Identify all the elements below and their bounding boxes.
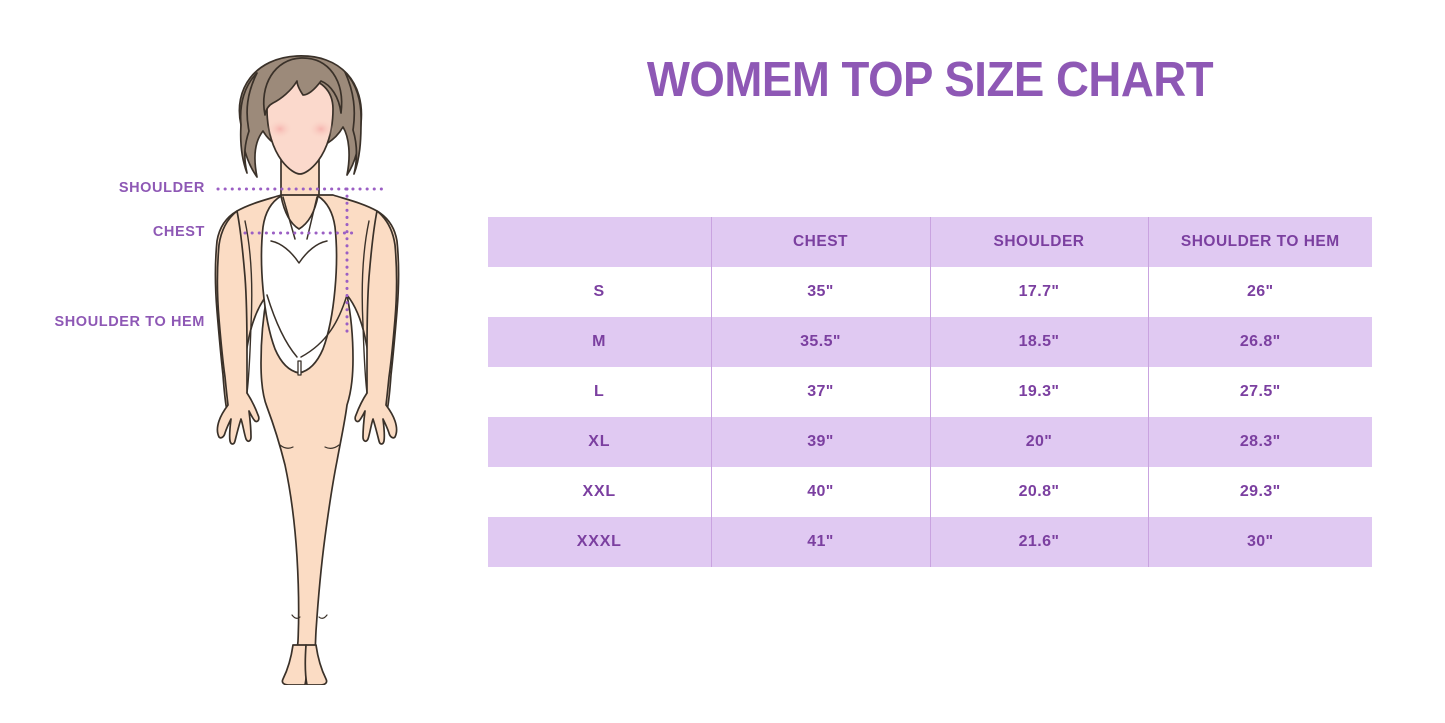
size-chart-table: CHEST SHOULDER SHOULDER TO HEM S 35" 17.… bbox=[488, 217, 1372, 567]
ankle-line-right bbox=[319, 615, 327, 618]
cell-shoulder-to-hem: 30" bbox=[1148, 517, 1372, 567]
table-header-row: CHEST SHOULDER SHOULDER TO HEM bbox=[488, 217, 1372, 267]
cell-size: XL bbox=[488, 417, 711, 467]
female-figure-illustration bbox=[175, 45, 425, 685]
page-title: WOMEM TOP SIZE CHART bbox=[502, 52, 1358, 108]
cell-shoulder: 17.7" bbox=[930, 267, 1148, 317]
cell-shoulder-to-hem: 28.3" bbox=[1148, 417, 1372, 467]
column-header-chest: CHEST bbox=[711, 217, 930, 267]
cell-shoulder-to-hem: 29.3" bbox=[1148, 467, 1372, 517]
column-header-size bbox=[488, 217, 711, 267]
cheek-right bbox=[308, 119, 334, 139]
cell-shoulder: 18.5" bbox=[930, 317, 1148, 367]
cell-shoulder: 20" bbox=[930, 417, 1148, 467]
cell-shoulder-to-hem: 26.8" bbox=[1148, 317, 1372, 367]
cell-size: L bbox=[488, 367, 711, 417]
cell-chest: 35" bbox=[711, 267, 930, 317]
cell-size: XXL bbox=[488, 467, 711, 517]
table-row: M 35.5" 18.5" 26.8" bbox=[488, 317, 1372, 367]
cell-chest: 40" bbox=[711, 467, 930, 517]
table-row: L 37" 19.3" 27.5" bbox=[488, 367, 1372, 417]
cell-shoulder-to-hem: 26" bbox=[1148, 267, 1372, 317]
table-row: XL 39" 20" 28.3" bbox=[488, 417, 1372, 467]
cell-shoulder: 19.3" bbox=[930, 367, 1148, 417]
size-chart-page: WOMEM TOP SIZE CHART SHOULDER CHEST SHOU… bbox=[0, 0, 1445, 723]
cell-chest: 39" bbox=[711, 417, 930, 467]
cheek-left bbox=[267, 119, 293, 139]
column-header-shoulder-to-hem: SHOULDER TO HEM bbox=[1148, 217, 1372, 267]
cell-size: S bbox=[488, 267, 711, 317]
cell-size: XXXL bbox=[488, 517, 711, 567]
foot-right-real bbox=[305, 645, 326, 685]
table-row: S 35" 17.7" 26" bbox=[488, 267, 1372, 317]
cell-shoulder-to-hem: 27.5" bbox=[1148, 367, 1372, 417]
cell-chest: 35.5" bbox=[711, 317, 930, 367]
cell-shoulder: 21.6" bbox=[930, 517, 1148, 567]
cell-size: M bbox=[488, 317, 711, 367]
cell-shoulder: 20.8" bbox=[930, 467, 1148, 517]
table-row: XXL 40" 20.8" 29.3" bbox=[488, 467, 1372, 517]
cell-chest: 41" bbox=[711, 517, 930, 567]
cell-chest: 37" bbox=[711, 367, 930, 417]
leg-gap bbox=[298, 361, 301, 375]
table-row: XXXL 41" 21.6" 30" bbox=[488, 517, 1372, 567]
column-header-shoulder: SHOULDER bbox=[930, 217, 1148, 267]
